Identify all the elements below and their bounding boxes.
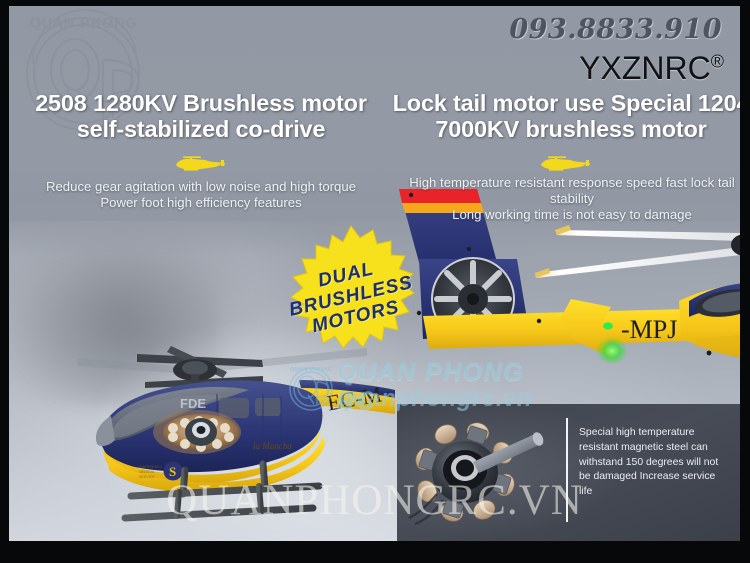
center-watermark-line2: quanphongrc.vn: [337, 385, 532, 413]
image-frame: QUAN PHONG: [0, 0, 750, 563]
dual-brushless-motors-badge: DUAL BRUSHLESS MOTORS: [265, 224, 437, 369]
helicopter-icon: [536, 154, 592, 176]
subtitle-left-line1: Reduce gear agitation with low noise and…: [13, 179, 389, 195]
subtitle-right-line2: Long working time is not easy to damage: [387, 207, 740, 223]
subtitle-left-line2: Power foot high efficiency features: [13, 195, 389, 211]
phone-number: 093.8833.910: [509, 14, 722, 45]
promo-banner: QUAN PHONG: [0, 0, 750, 563]
svg-text:QUAN PHONG: QUAN PHONG: [29, 16, 136, 32]
fuselage-registration: FDE: [180, 396, 206, 411]
svg-text:EMERGENCY: EMERGENCY: [139, 465, 163, 469]
quan-phong-circular-logo-icon: QUAN PHONG: [285, 362, 337, 414]
brand-name: YXZNRC®: [579, 50, 724, 87]
banner-canvas: QUAN PHONG: [9, 6, 740, 541]
fuselage-decal-text: la Mancha: [253, 441, 292, 451]
registered-trademark-icon: ®: [711, 51, 724, 71]
svg-text:MEDICAL: MEDICAL: [139, 470, 155, 474]
registration-text: -MPJ: [621, 315, 677, 344]
svg-text:QUAN PHONG: QUAN PHONG: [290, 367, 333, 373]
center-watermark: QUAN PHONG QUAN PHONG RC quanphongrc.vn: [285, 358, 563, 420]
subtitle-right: High temperature resistant response spee…: [387, 175, 740, 223]
brand-label: YXZNRC: [579, 50, 711, 86]
headline-left: 2508 1280KV Brushless motor self-stabili…: [15, 90, 387, 143]
subtitle-left: Reduce gear agitation with low noise and…: [13, 179, 389, 211]
helicopter-icon: [171, 154, 227, 176]
headline-right: Lock tail motor use Special 1204 7000KV …: [387, 90, 740, 143]
subtitle-right-line1: High temperature resistant response spee…: [387, 175, 740, 207]
bottom-watermark: QUANPHONGRC.VN: [9, 476, 740, 525]
